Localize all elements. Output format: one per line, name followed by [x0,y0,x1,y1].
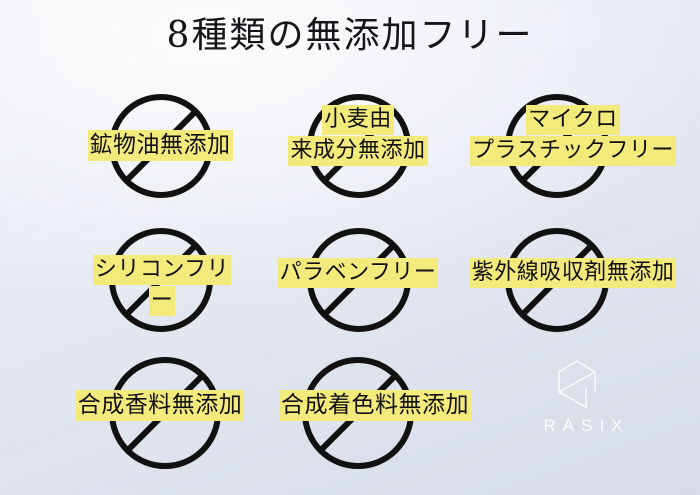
no-symbol-icon-uv-absorber [503,226,611,334]
no-symbol-icon-microplastic [503,92,611,200]
no-symbol-icon-synthetic-colorant [300,355,416,471]
poster-canvas: 8種類の無添加フリー 鉱物油無添加 小麦由 来成分無添加 マイクロ プラスチック… [0,0,700,495]
hexagon-r-mark-icon [550,358,604,414]
brand-wordmark: RASIX [528,416,638,436]
no-symbol-icon-mineral-oil [107,92,215,200]
no-symbol-icon-silicone [107,226,215,334]
no-symbol-icon-paraben [305,226,413,334]
no-symbol-icon-synthetic-fragrance [107,355,223,471]
page-title: 8種類の無添加フリー [0,14,700,58]
no-symbol-icon-wheat [305,92,413,200]
brand-logo: RASIX [528,358,638,450]
